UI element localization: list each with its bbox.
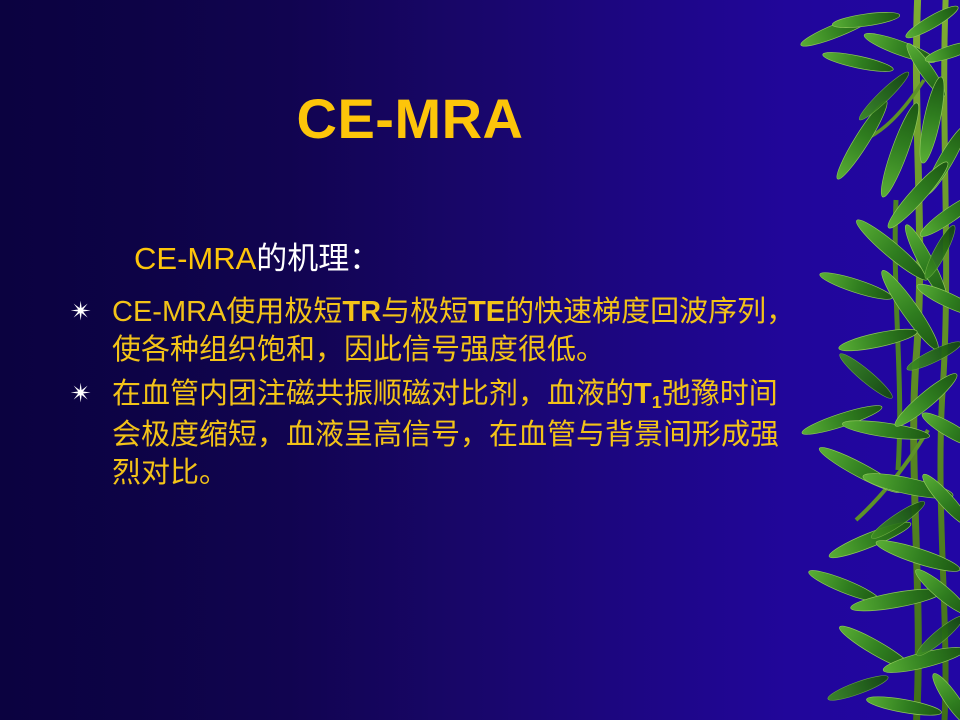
bullet1-seg-a: CE-MRA <box>112 296 226 328</box>
subheading-latin: CE-MRA <box>134 241 256 276</box>
slide-subheading: CE-MRA的机理： <box>134 240 802 279</box>
eight-point-star-bullet-icon: ✴ <box>62 293 112 331</box>
bullet1-seg-te: TE <box>468 296 505 328</box>
bamboo-leaves-graphic <box>800 0 960 720</box>
bullet2-seg-a: 在血管内团注磁共振顺磁对比剂，血液的 <box>112 378 634 410</box>
bullet1-seg-d: 与极短 <box>381 296 468 328</box>
bullet-item: ✴ 在血管内团注磁共振顺磁对比剂，血液的T1弛豫时间会极度缩短，血液呈高信号，在… <box>62 375 802 492</box>
bullet-text-1: CE-MRA使用极短TR与极短TE的快速梯度回波序列，使各种组织饱和，因此信号强… <box>112 293 802 369</box>
presentation-slide: CE-MRA CE-MRA的机理： ✴ CE-MRA使用极短TR与极短TE的快速… <box>0 0 960 720</box>
slide-title: CE-MRA <box>0 90 820 149</box>
bullet2-seg-t: T <box>634 378 652 410</box>
eight-point-star-bullet-icon: ✴ <box>62 375 112 413</box>
bullet1-seg-b: 使用极短 <box>226 296 342 328</box>
bullet-item: ✴ CE-MRA使用极短TR与极短TE的快速梯度回波序列，使各种组织饱和，因此信… <box>62 293 802 369</box>
bullet-text-2: 在血管内团注磁共振顺磁对比剂，血液的T1弛豫时间会极度缩短，血液呈高信号，在血管… <box>112 375 802 492</box>
bullet1-seg-tr: TR <box>342 296 381 328</box>
bullet2-seg-subscript: 1 <box>652 392 662 412</box>
subheading-han: 的机理： <box>256 241 380 276</box>
slide-body: CE-MRA的机理： ✴ CE-MRA使用极短TR与极短TE的快速梯度回波序列，… <box>62 240 802 498</box>
